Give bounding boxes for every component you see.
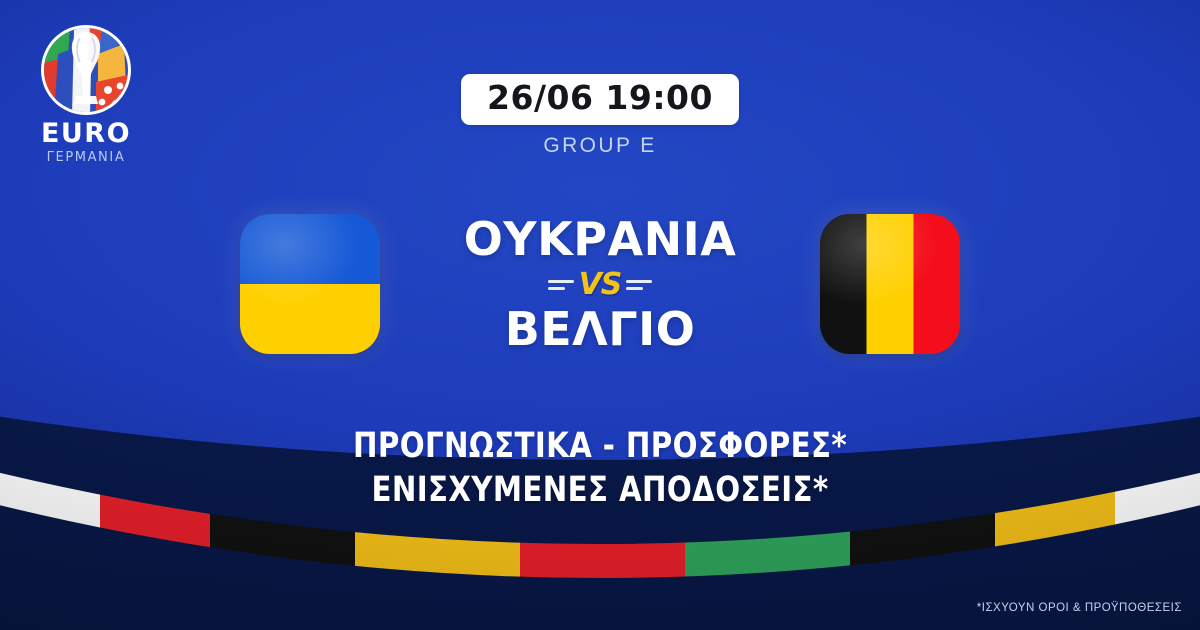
group-label: GROUP E: [0, 134, 1200, 158]
away-team-name: ΒΕΛΓΙΟ: [390, 306, 810, 353]
terms-and-conditions: *ΙΣΧΥΟΥΝ ΟΡΟΙ & ΠΡΟΫΠΟΘΕΣΕΙΣ: [977, 602, 1182, 614]
match-row: ΟΥΚΡΑΝΙΑ VS ΒΕΛΓΙΟ: [0, 196, 1200, 372]
belgium-flag: [820, 214, 960, 354]
speed-lines-left-icon: [548, 280, 574, 290]
home-team-name: ΟΥΚΡΑΝΙΑ: [390, 216, 810, 263]
ukraine-flag: [240, 214, 380, 354]
team-names: ΟΥΚΡΑΝΙΑ VS ΒΕΛΓΙΟ: [380, 216, 820, 353]
match-header: 26/06 19:00 GROUP E: [0, 74, 1200, 158]
speed-lines-right-icon: [626, 280, 652, 290]
flag-gloss: [820, 214, 960, 354]
flag-gloss: [240, 214, 380, 354]
promo-text: ΠΡΟΓΝΩΣΤΙΚΑ - ΠΡΟΣΦΟΡΕΣ* ΕΝΙΣΧΥΜΕΝΕΣ ΑΠΟ…: [0, 424, 1200, 513]
promo-line-1: ΠΡΟΓΝΩΣΤΙΚΑ - ΠΡΟΣΦΟΡΕΣ*: [42, 424, 1158, 468]
versus-separator: VS: [390, 265, 810, 305]
versus-label: VS: [579, 270, 622, 300]
promo-line-2: ΕΝΙΣΧΥΜΕΝΕΣ ΑΠΟΔΟΣΕΙΣ*: [42, 468, 1158, 512]
match-promo-banner: EURO ΓΕΡΜΑΝΙΑ 26/06 19:00 GROUP E ΟΥΚΡΑΝ…: [0, 0, 1200, 630]
match-datetime-badge: 26/06 19:00: [461, 74, 739, 125]
